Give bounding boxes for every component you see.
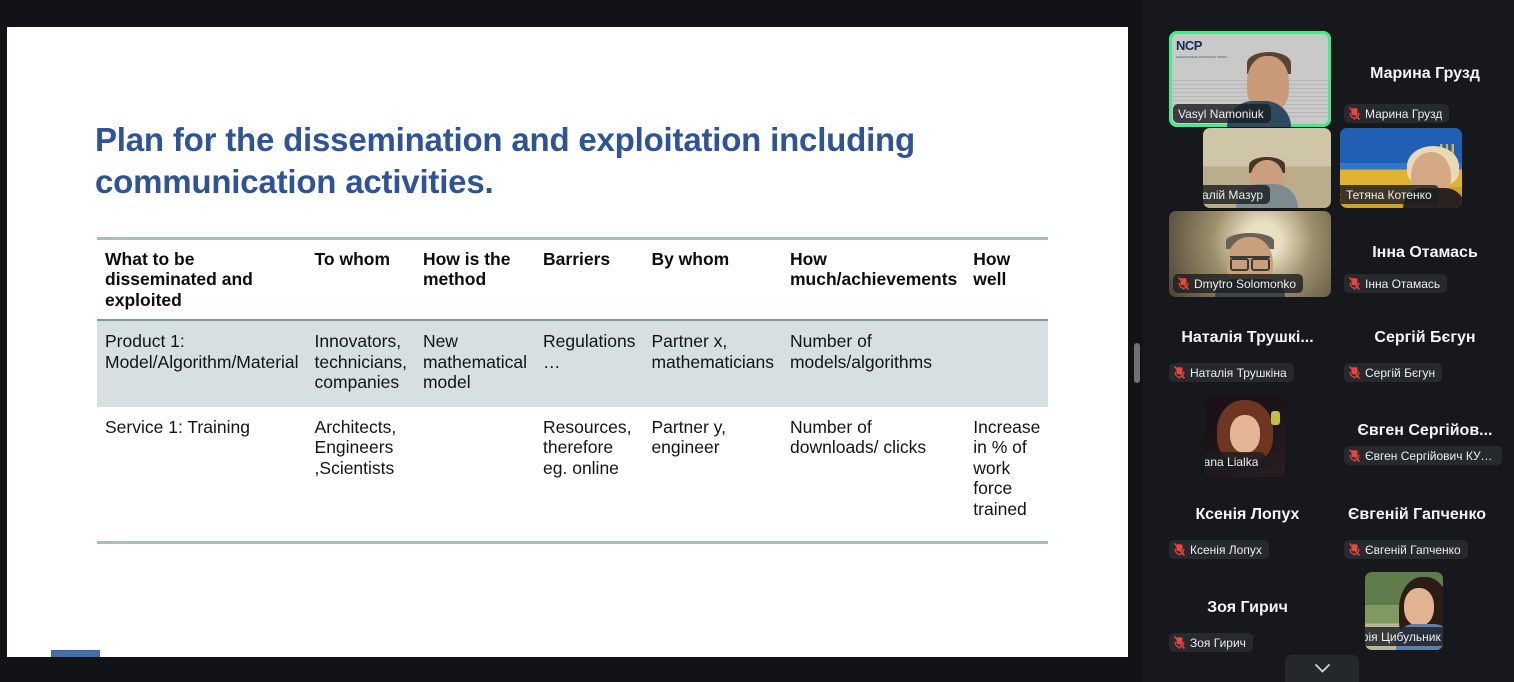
ncp-logo-word: NCP	[1176, 38, 1202, 53]
participant-tile-biehun[interactable]: Сергій Бєгун Сергій Бєгун	[1340, 320, 1510, 394]
participant-tile-trushkina[interactable]: Наталія Трушкі... Наталія Трушкіна	[1160, 320, 1335, 394]
cell-barriers: Regulations …	[535, 320, 643, 406]
shared-screen-stage[interactable]: Plan for the dissemination and exploitat…	[0, 0, 1143, 682]
cell-how-well	[965, 320, 1048, 406]
participant-name-chip: Віталій Мазур	[1203, 185, 1270, 204]
participant-filmstrip[interactable]: NCP НАЦІОНАЛЬНА КОНТАКТНА ТОЧКА Vasyl Na…	[1150, 0, 1514, 682]
participant-tile-lialka[interactable]: Tetiana Lialka	[1205, 397, 1285, 477]
avatar-glasses	[1230, 256, 1270, 265]
participant-name: Tetiana Lialka	[1205, 455, 1258, 469]
participant-name-chip: Наталія Трушкіна	[1169, 363, 1294, 382]
cell-how-much-achievements: Number of downloads/ clicks	[782, 407, 965, 543]
cell-how-well: Increase in % of work force trained	[965, 407, 1048, 543]
column-header-what-to-be-disseminated: What to be disseminated and exploited	[97, 239, 307, 321]
participant-name-chip: Євген Сергійович КУЗ…	[1344, 446, 1502, 465]
mic-muted-icon	[1178, 277, 1189, 290]
cell-barriers: Resources, therefore eg. online	[535, 407, 643, 543]
column-header-to-whom: To whom	[307, 239, 415, 321]
participant-name: Зоя Гирич	[1190, 636, 1246, 650]
participant-display-name: Марина Грузд	[1340, 65, 1510, 83]
participant-name-chip: Зоя Гирич	[1169, 633, 1253, 652]
participant-tile-tsybulnyk[interactable]: Марія Цибульник	[1365, 572, 1443, 650]
cell-by-whom: Partner y, engineer	[643, 407, 782, 543]
mic-muted-icon	[1174, 543, 1185, 556]
column-header-how-is-the-method: How is the method	[415, 239, 535, 321]
mic-muted-icon	[1349, 366, 1360, 379]
participant-tile-kuz[interactable]: Євген Сергійов... Євген Сергійович КУЗ…	[1340, 397, 1510, 477]
participant-name: Євген Сергійович КУЗ…	[1365, 449, 1495, 463]
column-header-how-well: How well	[965, 239, 1048, 321]
pane-resize-handle[interactable]	[1134, 343, 1140, 383]
avatar-head	[1230, 415, 1260, 453]
ncp-logo-subtitle: НАЦІОНАЛЬНА КОНТАКТНА ТОЧКА	[1176, 55, 1238, 60]
participant-tile-solomonko[interactable]: Dmytro Solomonko	[1169, 211, 1331, 297]
participant-name: Марія Цибульник	[1365, 630, 1441, 644]
participant-display-name: Ксенія Лопух	[1160, 506, 1335, 524]
zoom-meeting-window: Plan for the dissemination and exploitat…	[0, 0, 1514, 682]
table-row: Product 1: Model/Algorithm/Material Inno…	[97, 320, 1048, 406]
avatar-head	[1404, 588, 1434, 626]
participant-tile-hyrych[interactable]: Зоя Гирич Зоя Гирич	[1160, 590, 1335, 664]
participant-tile-otamas[interactable]: Інна Отамась Інна Отамась	[1340, 211, 1510, 297]
participant-name-chip: Інна Отамась	[1344, 274, 1447, 293]
filmstrip-scroll-down-button[interactable]	[1285, 655, 1359, 682]
participant-tile-namoniuk[interactable]: NCP НАЦІОНАЛЬНА КОНТАКТНА ТОЧКА Vasyl Na…	[1169, 31, 1331, 127]
presentation-slide[interactable]: Plan for the dissemination and exploitat…	[7, 27, 1128, 657]
participant-display-name: Сергій Бєгун	[1340, 329, 1510, 347]
page-title: Plan for the dissemination and exploitat…	[95, 119, 975, 203]
mic-muted-icon	[1174, 366, 1185, 379]
participant-name-chip: Vasyl Namoniuk	[1173, 104, 1271, 123]
chevron-down-icon	[1315, 664, 1330, 673]
cell-by-whom: Partner x, mathematicians	[643, 320, 782, 406]
participant-name-chip: Євгеній Гапченко	[1344, 540, 1468, 559]
cell-how-much-achievements: Number of models/algorithms	[782, 320, 965, 406]
column-header-barriers: Barriers	[535, 239, 643, 321]
participant-display-name: Зоя Гирич	[1160, 599, 1335, 617]
participant-tile-kotenko[interactable]: Тетяна Котенко	[1340, 128, 1462, 208]
cell-what-to-be-disseminated: Service 1: Training	[97, 407, 307, 543]
background-highlight	[1271, 411, 1280, 425]
participant-name-chip: Ксенія Лопух	[1169, 540, 1269, 559]
table-row: Service 1: Training Architects, Engineer…	[97, 407, 1048, 543]
participant-display-name: Наталія Трушкі...	[1160, 329, 1335, 347]
participant-name: Vasyl Namoniuk	[1178, 107, 1264, 121]
mic-muted-icon	[1349, 107, 1360, 120]
participant-name-chip: Tetiana Lialka	[1205, 452, 1265, 471]
participant-tile-hapchenko[interactable]: Євгеній Гапченко Євгеній Гапченко	[1340, 497, 1514, 571]
participant-name-chip: Марія Цибульник	[1365, 627, 1443, 646]
participant-name: Євгеній Гапченко	[1365, 543, 1461, 557]
participant-name: Сергій Бєгун	[1365, 366, 1435, 380]
table-header-row: What to be disseminated and exploited To…	[97, 239, 1048, 321]
cell-what-to-be-disseminated: Product 1: Model/Algorithm/Material	[97, 320, 307, 406]
cell-how-is-the-method	[415, 407, 535, 543]
mic-muted-icon	[1349, 543, 1360, 556]
column-header-how-much-achievements: How much/achievements	[782, 239, 965, 321]
participant-display-name: Інна Отамась	[1340, 244, 1510, 262]
participant-name: Марина Грузд	[1365, 107, 1442, 121]
mic-muted-icon	[1174, 636, 1185, 649]
ncp-logo: NCP НАЦІОНАЛЬНА КОНТАКТНА ТОЧКА	[1176, 37, 1238, 57]
mic-muted-icon	[1340, 188, 1341, 201]
participant-tile-mazur[interactable]: Віталій Мазур	[1203, 128, 1331, 208]
dissemination-plan-table: What to be disseminated and exploited To…	[97, 237, 1048, 544]
participant-name: Наталія Трушкіна	[1190, 366, 1287, 380]
participant-display-name: Євгеній Гапченко	[1348, 506, 1514, 524]
participant-name-chip: Марина Грузд	[1344, 104, 1449, 123]
participant-name-chip: Тетяна Котенко	[1340, 185, 1439, 204]
participant-tile-lopukh[interactable]: Ксенія Лопух Ксенія Лопух	[1160, 497, 1335, 571]
participant-tile-hruzd[interactable]: Марина Грузд Марина Грузд	[1340, 31, 1510, 127]
mic-muted-icon	[1349, 449, 1360, 462]
participant-name: Віталій Мазур	[1203, 188, 1263, 202]
mic-muted-icon	[1349, 277, 1360, 290]
participant-name-chip: Dmytro Solomonko	[1173, 274, 1303, 293]
participant-name: Dmytro Solomonko	[1194, 277, 1296, 291]
participant-name-chip: Сергій Бєгун	[1344, 363, 1442, 382]
column-header-by-whom: By whom	[643, 239, 782, 321]
participant-name: Інна Отамась	[1365, 277, 1440, 291]
cell-how-is-the-method: New mathematical model	[415, 320, 535, 406]
participant-name: Тетяна Котенко	[1346, 188, 1432, 202]
slide-number-badge: 21	[51, 650, 100, 657]
cell-to-whom: Innovators, technicians, companies	[307, 320, 415, 406]
cell-to-whom: Architects, Engineers ,Scientists	[307, 407, 415, 543]
participant-display-name: Євген Сергійов...	[1340, 422, 1510, 440]
participant-name: Ксенія Лопух	[1190, 543, 1262, 557]
